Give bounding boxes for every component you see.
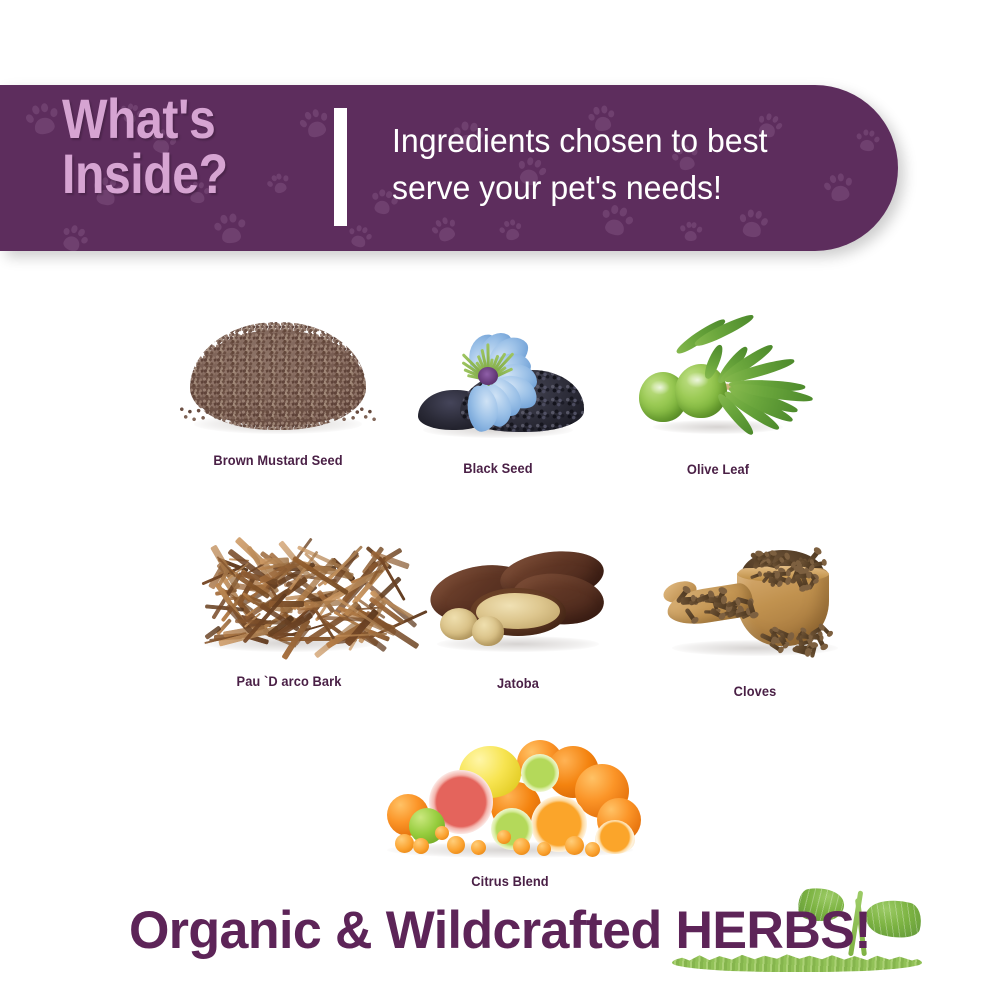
ingredient-label: Black Seed — [416, 461, 579, 476]
pau-darco-bark-image — [196, 546, 382, 650]
ingredient-cloves: Cloves — [665, 542, 845, 699]
paw-print-icon — [22, 99, 63, 140]
banner-divider — [334, 108, 347, 226]
kumquat-fruit — [537, 842, 551, 856]
ingredient-jatoba: Jatoba — [428, 542, 608, 691]
orange-half — [595, 820, 635, 854]
ingredient-label: Citrus Blend — [386, 874, 635, 889]
clove-bud — [682, 597, 695, 601]
ingredient-brown-mustard-seed: Brown Mustard Seed — [190, 322, 366, 468]
ingredient-label: Olive Leaf — [637, 462, 799, 477]
cloves-image — [665, 542, 845, 654]
ingredient-pau-darco-bark: Pau `D arco Bark — [196, 546, 382, 689]
paw-print-icon — [265, 170, 293, 198]
ingredient-label: Jatoba — [433, 676, 604, 691]
paw-print-icon — [679, 220, 702, 243]
banner-tagline: Ingredients chosen to best serve your pe… — [392, 118, 877, 212]
kumquat-fruit — [447, 836, 465, 854]
clove-bud — [800, 635, 811, 638]
kumquat-fruit — [395, 834, 414, 853]
citrus-blend-image — [379, 738, 641, 856]
ingredient-olive-leaf: Olive Leaf — [633, 334, 803, 477]
brown-mustard-seed-image — [190, 322, 366, 430]
paw-print-icon — [428, 213, 462, 247]
paw-print-icon — [212, 211, 249, 248]
kumquat-fruit — [565, 836, 584, 855]
kumquat-fruit — [497, 830, 511, 844]
paw-print-icon — [498, 217, 526, 245]
olive-leaf — [693, 311, 756, 349]
ingredient-black-seed: Black Seed — [412, 332, 584, 476]
kumquat-fruit — [435, 826, 449, 840]
footer-heading-row: Organic & Wildcrafted HERBS! — [0, 900, 1000, 970]
paw-print-icon — [736, 207, 771, 242]
ingredient-label: Cloves — [670, 684, 841, 699]
paw-print-icon — [55, 220, 92, 251]
kumquat-fruit — [513, 838, 530, 855]
paw-print-icon — [345, 222, 375, 251]
ingredient-label: Brown Mustard Seed — [194, 453, 361, 468]
poster-canvas: What's Inside? Ingredients chosen to bes… — [0, 0, 1000, 1000]
footer-heading: Organic & Wildcrafted HERBS! — [10, 900, 990, 961]
kumquat-fruit — [413, 838, 429, 854]
ingredient-citrus-blend: Citrus Blend — [379, 738, 641, 889]
bark-shred — [260, 557, 290, 564]
paw-print-icon — [296, 105, 334, 143]
jatoba-image — [428, 542, 608, 650]
lime-half — [521, 754, 559, 792]
ingredient-label: Pau `D arco Bark — [201, 674, 378, 689]
flower-center — [478, 367, 498, 385]
kumquat-fruit — [585, 842, 600, 857]
banner-heading: What's Inside? — [62, 92, 228, 202]
black-seed-image — [412, 332, 584, 436]
olive-leaf-image — [633, 334, 803, 434]
kumquat-fruit — [471, 840, 486, 855]
